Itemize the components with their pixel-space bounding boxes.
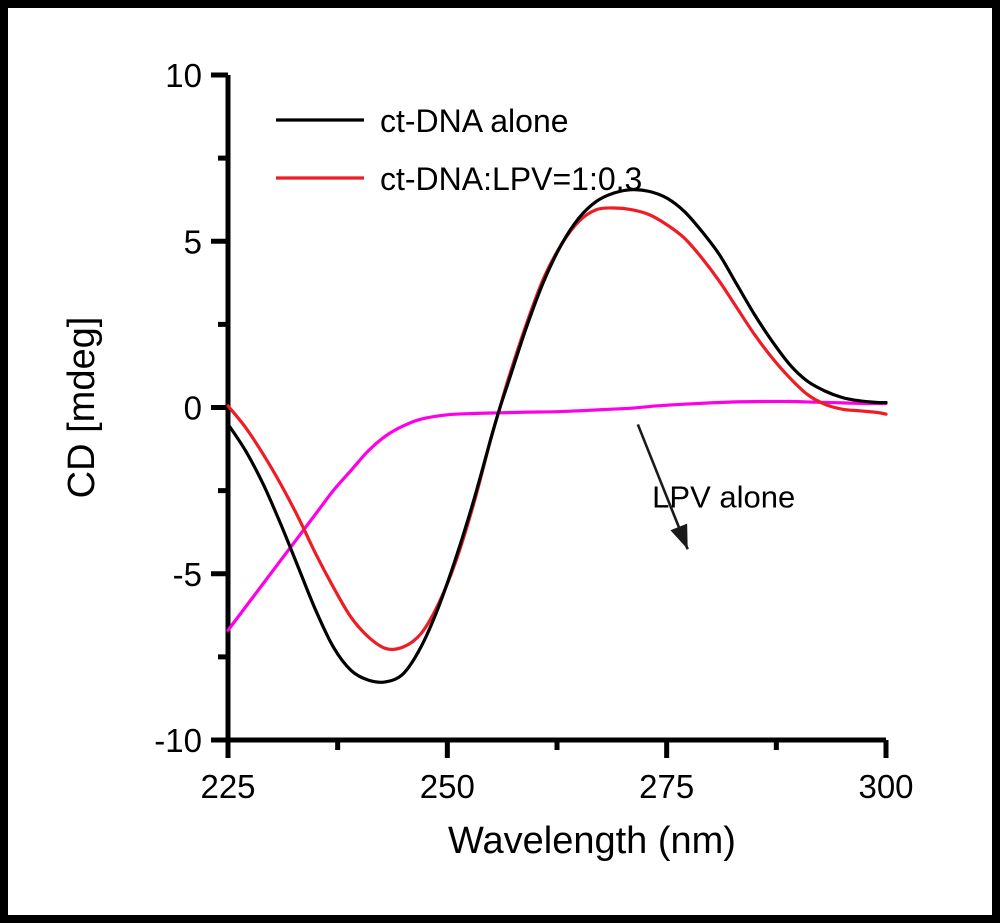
x-tick-label: 275 <box>639 768 694 805</box>
y-tick-label: 5 <box>184 223 202 260</box>
x-tick-label: 300 <box>858 768 913 805</box>
y-tick-label: 10 <box>165 57 202 94</box>
data-series <box>228 190 886 683</box>
legend-label-1: ct-DNA:LPV=1:0.3 <box>380 161 642 197</box>
legend-label-0: ct-DNA alone <box>380 103 569 139</box>
y-axis-title: CD [mdeg] <box>61 317 103 499</box>
axis-titles: Wavelength (nm)CD [mdeg] <box>61 317 736 862</box>
x-tick-label: 225 <box>200 768 255 805</box>
annotation-label: LPV alone <box>652 479 795 514</box>
series-line-ct-dna-lpv-1-0-3 <box>228 208 886 649</box>
x-tick-label: 250 <box>420 768 475 805</box>
cd-spectrum-chart: -10-50510225250275300 ct-DNA alonect-DNA… <box>8 8 992 915</box>
annotations: LPV alone <box>638 424 795 549</box>
figure-frame: -10-50510225250275300 ct-DNA alonect-DNA… <box>0 0 1000 923</box>
annotation-arrow-head <box>670 524 687 550</box>
x-axis-title: Wavelength (nm) <box>448 820 736 862</box>
legend[interactable]: ct-DNA alonect-DNA:LPV=1:0.3 <box>276 103 642 197</box>
y-tick-label: -10 <box>154 722 202 759</box>
series-line-lpv-alone <box>228 401 886 630</box>
figure-canvas: -10-50510225250275300 ct-DNA alonect-DNA… <box>8 8 992 915</box>
y-tick-label: -5 <box>173 556 202 593</box>
series-line-ct-dna-alone <box>228 190 886 683</box>
y-tick-label: 0 <box>184 390 202 427</box>
